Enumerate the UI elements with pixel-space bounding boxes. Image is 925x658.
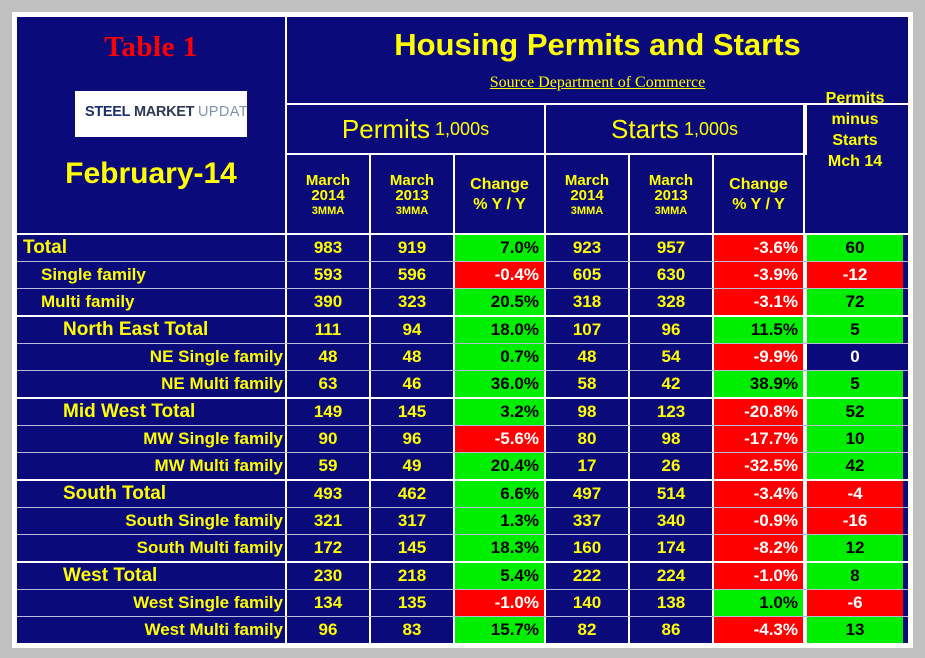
cell-permits-change: 20.4% bbox=[455, 453, 546, 479]
cell-permits-change: 15.7% bbox=[455, 617, 546, 643]
col-line-2: 2013 bbox=[654, 188, 687, 203]
table-row[interactable]: Single family593596-0.4%605630-3.9%-12 bbox=[17, 261, 908, 288]
cell-permits-minus-starts: -12 bbox=[805, 262, 903, 288]
cell-permits-change: 20.5% bbox=[455, 289, 546, 315]
cell-permits-change: -1.0% bbox=[455, 590, 546, 616]
cell-permits-minus-starts: 10 bbox=[805, 426, 903, 452]
table-row[interactable]: MW Multi family594920.4%1726-32.5%42 bbox=[17, 452, 908, 479]
group-starts-name: Starts bbox=[611, 114, 679, 145]
cell-permits-2013: 317 bbox=[371, 508, 455, 534]
column-header-starts-2014: March 2014 3MMA bbox=[546, 155, 630, 233]
cell-permits-minus-starts: -16 bbox=[805, 508, 903, 534]
cell-starts-2013: 26 bbox=[630, 453, 714, 479]
table-row[interactable]: West Total2302185.4%222224-1.0%8 bbox=[17, 561, 908, 589]
cell-permits-2013: 145 bbox=[371, 399, 455, 425]
cell-permits-change: 36.0% bbox=[455, 371, 546, 397]
column-header-starts-2013: March 2013 3MMA bbox=[630, 155, 714, 233]
row-label: Total bbox=[17, 235, 287, 261]
cell-starts-change: -9.9% bbox=[714, 344, 805, 370]
logo-word-update: UPDATE bbox=[198, 104, 247, 120]
group-starts-unit: 1,000s bbox=[684, 119, 738, 140]
steel-market-update-logo: STEEL MARKET UPDATE bbox=[75, 91, 247, 137]
cell-starts-2014: 923 bbox=[546, 235, 630, 261]
cell-starts-2014: 48 bbox=[546, 344, 630, 370]
logo-wordmark: STEEL MARKET UPDATE bbox=[85, 104, 241, 120]
cell-starts-2014: 605 bbox=[546, 262, 630, 288]
cell-permits-change: 5.4% bbox=[455, 563, 546, 589]
table-row[interactable]: North East Total1119418.0%1079611.5%5 bbox=[17, 315, 908, 343]
col-line-3: 3MMA bbox=[571, 206, 603, 217]
cell-permits-2014: 96 bbox=[287, 617, 371, 643]
group-header-row: Permits 1,000s Starts 1,000s Permits min… bbox=[287, 105, 908, 155]
row-label: MW Single family bbox=[17, 426, 287, 452]
row-label: South Multi family bbox=[17, 535, 287, 561]
data-grid: Total9839197.0%923957-3.6%60Single famil… bbox=[17, 233, 908, 643]
pms-line-2: minus bbox=[831, 109, 878, 130]
cell-permits-2013: 919 bbox=[371, 235, 455, 261]
cell-starts-2013: 174 bbox=[630, 535, 714, 561]
cell-permits-2014: 48 bbox=[287, 344, 371, 370]
cell-starts-change: -32.5% bbox=[714, 453, 805, 479]
source-note: Source Department of Commerce bbox=[287, 74, 908, 92]
cell-starts-2013: 224 bbox=[630, 563, 714, 589]
table-row[interactable]: South Total4934626.6%497514-3.4%-4 bbox=[17, 479, 908, 507]
cell-permits-2014: 111 bbox=[287, 317, 371, 343]
cell-starts-2014: 107 bbox=[546, 317, 630, 343]
group-header-starts: Starts 1,000s bbox=[546, 105, 805, 155]
table-row[interactable]: NE Multi family634636.0%584238.9%5 bbox=[17, 370, 908, 397]
cell-permits-minus-starts: 60 bbox=[805, 235, 903, 261]
table-row[interactable]: West Multi family968315.7%8286-4.3%13 bbox=[17, 616, 908, 643]
cell-permits-minus-starts: 72 bbox=[805, 289, 903, 315]
cell-permits-2013: 218 bbox=[371, 563, 455, 589]
column-header-spacer bbox=[805, 155, 903, 233]
cell-permits-2013: 83 bbox=[371, 617, 455, 643]
slide-canvas: Table 1 STEE bbox=[12, 12, 913, 648]
row-label: MW Multi family bbox=[17, 453, 287, 479]
group-permits-unit: 1,000s bbox=[435, 119, 489, 140]
col-line-1: Change bbox=[470, 177, 529, 193]
table-row[interactable]: South Multi family17214518.3%160174-8.2%… bbox=[17, 534, 908, 561]
cell-permits-minus-starts: 0 bbox=[805, 344, 903, 370]
row-label: West Total bbox=[17, 563, 287, 589]
cell-starts-2014: 17 bbox=[546, 453, 630, 479]
cell-starts-change: -20.8% bbox=[714, 399, 805, 425]
cell-permits-2014: 63 bbox=[287, 371, 371, 397]
cell-permits-minus-starts: 42 bbox=[805, 453, 903, 479]
cell-starts-change: -1.0% bbox=[714, 563, 805, 589]
cell-starts-change: -3.4% bbox=[714, 481, 805, 507]
row-label: West Single family bbox=[17, 590, 287, 616]
col-line-1: March bbox=[390, 173, 434, 188]
cell-starts-2013: 340 bbox=[630, 508, 714, 534]
cell-starts-2013: 42 bbox=[630, 371, 714, 397]
cell-starts-2013: 957 bbox=[630, 235, 714, 261]
cell-starts-2013: 328 bbox=[630, 289, 714, 315]
cell-permits-2013: 49 bbox=[371, 453, 455, 479]
cell-permits-2014: 134 bbox=[287, 590, 371, 616]
cell-permits-2014: 593 bbox=[287, 262, 371, 288]
cell-permits-change: 6.6% bbox=[455, 481, 546, 507]
table-row[interactable]: West Single family134135-1.0%1401381.0%-… bbox=[17, 589, 908, 616]
cell-starts-change: -0.9% bbox=[714, 508, 805, 534]
logo-word-market: MARKET bbox=[134, 104, 194, 120]
table-row[interactable]: Total9839197.0%923957-3.6%60 bbox=[17, 233, 908, 261]
cell-permits-2014: 321 bbox=[287, 508, 371, 534]
column-header-permits-change: Change % Y / Y bbox=[455, 155, 546, 233]
col-line-2: 2013 bbox=[395, 188, 428, 203]
row-label: South Total bbox=[17, 481, 287, 507]
row-label: Single family bbox=[17, 262, 287, 288]
cell-starts-2014: 497 bbox=[546, 481, 630, 507]
row-label: West Multi family bbox=[17, 617, 287, 643]
col-line-1: March bbox=[306, 173, 350, 188]
cell-starts-2013: 123 bbox=[630, 399, 714, 425]
cell-permits-2014: 90 bbox=[287, 426, 371, 452]
cell-permits-minus-starts: 8 bbox=[805, 563, 903, 589]
cell-permits-2013: 135 bbox=[371, 590, 455, 616]
cell-starts-2013: 514 bbox=[630, 481, 714, 507]
row-label: NE Multi family bbox=[17, 371, 287, 397]
column-header-row: March 2014 3MMA March 2013 3MMA Change %… bbox=[287, 155, 908, 233]
row-label: Multi family bbox=[17, 289, 287, 315]
cell-starts-change: -3.1% bbox=[714, 289, 805, 315]
cell-permits-change: 18.3% bbox=[455, 535, 546, 561]
cell-starts-2013: 138 bbox=[630, 590, 714, 616]
cell-permits-2013: 48 bbox=[371, 344, 455, 370]
cell-starts-change: 38.9% bbox=[714, 371, 805, 397]
cell-permits-2014: 149 bbox=[287, 399, 371, 425]
col-line-2: 2014 bbox=[570, 188, 603, 203]
cell-permits-minus-starts: 12 bbox=[805, 535, 903, 561]
table-row[interactable]: South Single family3213171.3%337340-0.9%… bbox=[17, 507, 908, 534]
cell-starts-2013: 96 bbox=[630, 317, 714, 343]
cell-starts-2013: 54 bbox=[630, 344, 714, 370]
cell-starts-change: 11.5% bbox=[714, 317, 805, 343]
table-row[interactable]: NE Single family48480.7%4854-9.9%0 bbox=[17, 343, 908, 370]
cell-starts-change: -17.7% bbox=[714, 426, 805, 452]
cell-permits-minus-starts: 52 bbox=[805, 399, 903, 425]
cell-starts-2014: 222 bbox=[546, 563, 630, 589]
col-line-3: 3MMA bbox=[655, 206, 687, 217]
column-header-permits-minus-starts: Permits minus Starts Mch 14 bbox=[805, 105, 903, 155]
cell-starts-2014: 82 bbox=[546, 617, 630, 643]
cell-permits-change: -5.6% bbox=[455, 426, 546, 452]
col-line-1: Change bbox=[729, 177, 788, 193]
cell-starts-2013: 98 bbox=[630, 426, 714, 452]
period-label: February-14 bbox=[17, 157, 285, 191]
table-frame: Table 1 STEE bbox=[16, 16, 909, 644]
cell-permits-2013: 323 bbox=[371, 289, 455, 315]
cell-permits-2014: 230 bbox=[287, 563, 371, 589]
cell-permits-2013: 462 bbox=[371, 481, 455, 507]
column-header-starts-change: Change % Y / Y bbox=[714, 155, 805, 233]
cell-starts-change: -3.6% bbox=[714, 235, 805, 261]
table-row[interactable]: Multi family39032320.5%318328-3.1%72 bbox=[17, 288, 908, 315]
column-header-permits-2014: March 2014 3MMA bbox=[287, 155, 371, 233]
col-line-3: 3MMA bbox=[396, 206, 428, 217]
cell-permits-2013: 94 bbox=[371, 317, 455, 343]
logo-word-steel: STEEL bbox=[85, 104, 130, 120]
cell-starts-2014: 58 bbox=[546, 371, 630, 397]
cell-starts-2014: 318 bbox=[546, 289, 630, 315]
cell-permits-2014: 59 bbox=[287, 453, 371, 479]
row-label: North East Total bbox=[17, 317, 287, 343]
col-line-1: March bbox=[649, 173, 693, 188]
title-block: Housing Permits and Starts Source Depart… bbox=[287, 17, 908, 105]
cell-permits-2013: 145 bbox=[371, 535, 455, 561]
cell-starts-change: -3.9% bbox=[714, 262, 805, 288]
cell-permits-change: 7.0% bbox=[455, 235, 546, 261]
cell-permits-2014: 493 bbox=[287, 481, 371, 507]
col-line-2: % Y / Y bbox=[732, 197, 784, 213]
cell-starts-2013: 630 bbox=[630, 262, 714, 288]
cell-permits-change: 0.7% bbox=[455, 344, 546, 370]
cell-permits-2014: 172 bbox=[287, 535, 371, 561]
cell-starts-2014: 98 bbox=[546, 399, 630, 425]
row-label: NE Single family bbox=[17, 344, 287, 370]
cell-permits-change: 1.3% bbox=[455, 508, 546, 534]
cell-starts-change: -8.2% bbox=[714, 535, 805, 561]
cell-permits-minus-starts: 5 bbox=[805, 371, 903, 397]
brand-panel: Table 1 STEE bbox=[17, 17, 287, 233]
group-permits-name: Permits bbox=[342, 114, 430, 145]
cell-permits-change: -0.4% bbox=[455, 262, 546, 288]
cell-starts-2013: 86 bbox=[630, 617, 714, 643]
table-row[interactable]: Mid West Total1491453.2%98123-20.8%52 bbox=[17, 397, 908, 425]
cell-starts-change: 1.0% bbox=[714, 590, 805, 616]
pms-line-3: Starts bbox=[832, 130, 877, 151]
col-line-2: % Y / Y bbox=[473, 197, 525, 213]
cell-starts-change: -4.3% bbox=[714, 617, 805, 643]
cell-permits-minus-starts: -4 bbox=[805, 481, 903, 507]
cell-starts-2014: 337 bbox=[546, 508, 630, 534]
cell-starts-2014: 140 bbox=[546, 590, 630, 616]
cell-permits-change: 18.0% bbox=[455, 317, 546, 343]
cell-permits-2014: 983 bbox=[287, 235, 371, 261]
cell-permits-2014: 390 bbox=[287, 289, 371, 315]
col-line-1: March bbox=[565, 173, 609, 188]
col-line-2: 2014 bbox=[311, 188, 344, 203]
row-label: Mid West Total bbox=[17, 399, 287, 425]
header-band: Table 1 STEE bbox=[17, 17, 908, 233]
page-title: Housing Permits and Starts bbox=[287, 27, 908, 63]
cell-permits-2013: 96 bbox=[371, 426, 455, 452]
cell-starts-2014: 80 bbox=[546, 426, 630, 452]
group-header-permits: Permits 1,000s bbox=[287, 105, 546, 155]
cell-starts-2014: 160 bbox=[546, 535, 630, 561]
table-row[interactable]: MW Single family9096-5.6%8098-17.7%10 bbox=[17, 425, 908, 452]
cell-permits-change: 3.2% bbox=[455, 399, 546, 425]
col-line-3: 3MMA bbox=[312, 206, 344, 217]
cell-permits-minus-starts: 13 bbox=[805, 617, 903, 643]
table-number-label: Table 1 bbox=[17, 31, 285, 64]
cell-permits-minus-starts: 5 bbox=[805, 317, 903, 343]
header-right: Housing Permits and Starts Source Depart… bbox=[287, 17, 908, 233]
cell-permits-2013: 46 bbox=[371, 371, 455, 397]
cell-permits-2013: 596 bbox=[371, 262, 455, 288]
column-header-permits-2013: March 2013 3MMA bbox=[371, 155, 455, 233]
row-label: South Single family bbox=[17, 508, 287, 534]
cell-permits-minus-starts: -6 bbox=[805, 590, 903, 616]
